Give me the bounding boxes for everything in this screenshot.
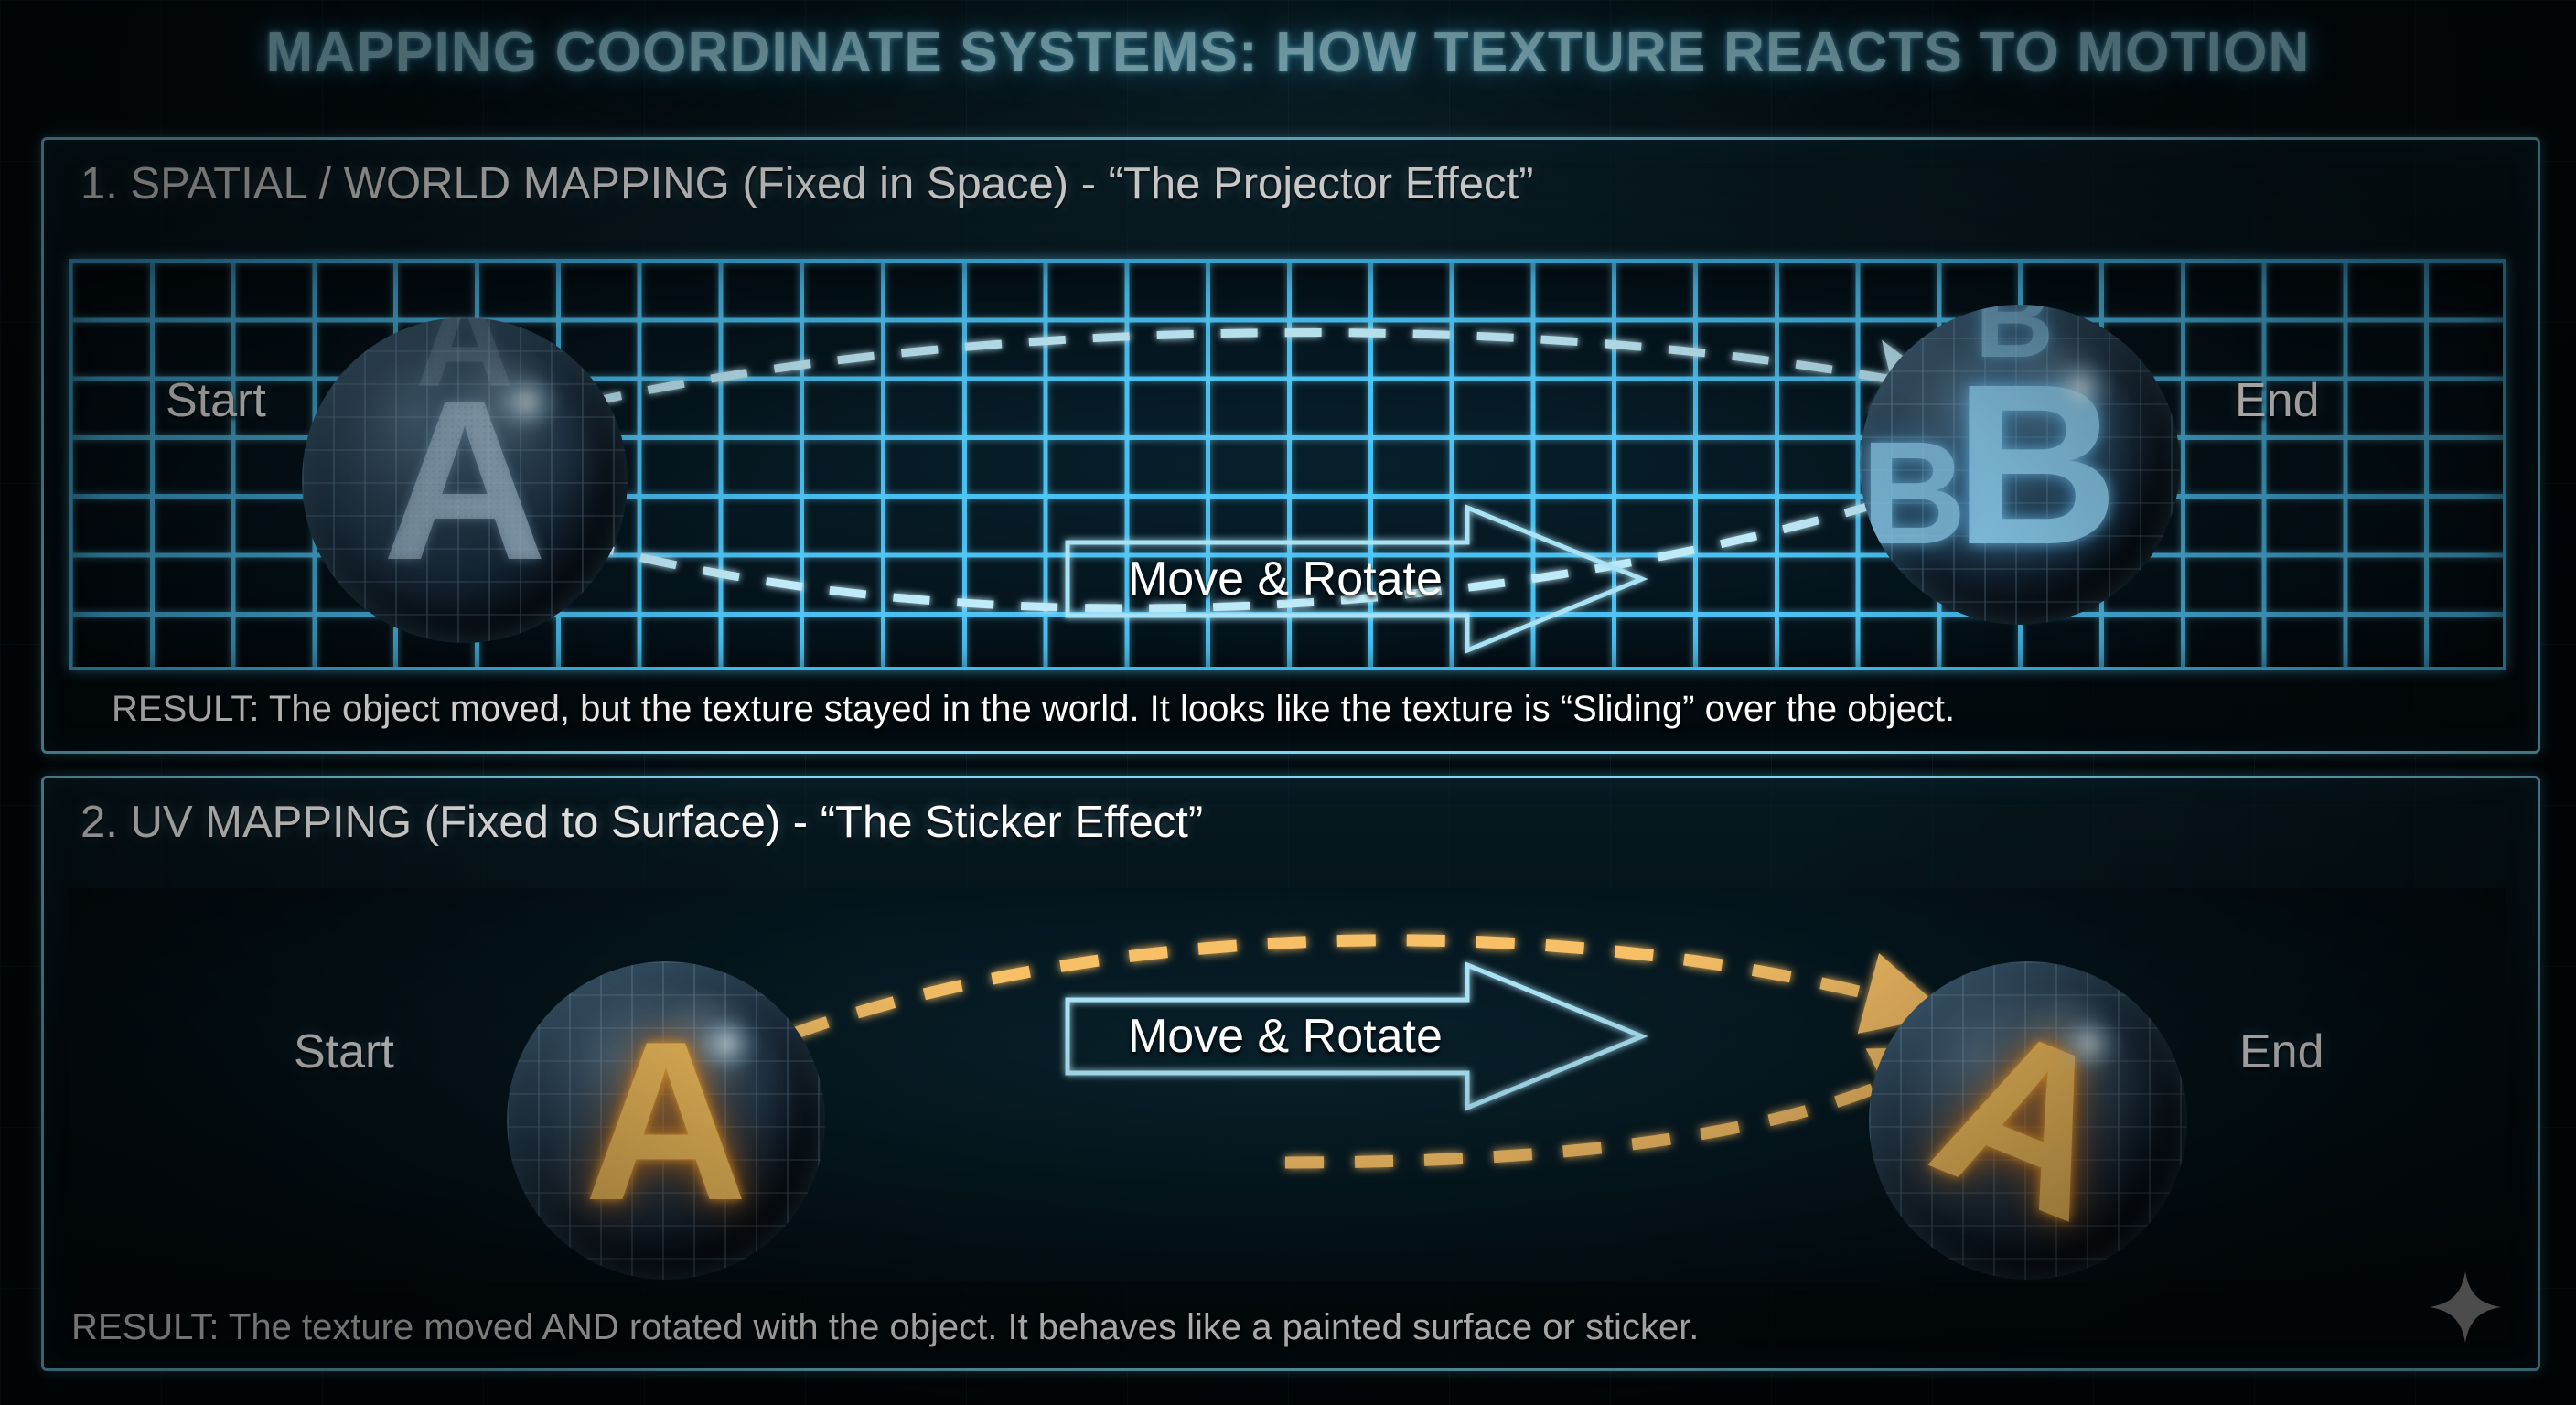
section-2-end-sphere: A: [1869, 961, 2187, 1280]
section-1-start-label: Start: [166, 373, 266, 428]
sparkle-icon: [2428, 1270, 2503, 1345]
section-2-arrow-label: Move & Rotate: [1065, 1009, 1506, 1064]
section-2-heading: 2. UV MAPPING (Fixed to Surface) - “The …: [80, 797, 1203, 848]
section-1-start-sphere: A A: [302, 317, 628, 643]
sphere-rim-light: [1869, 961, 2187, 1280]
section-1-end-label: End: [2235, 373, 2320, 428]
section-2-start-sphere: A: [507, 961, 825, 1280]
section-2-end-label: End: [2239, 1024, 2324, 1079]
sphere-rim-light: [1860, 305, 2180, 625]
sphere-rim-light: [302, 317, 628, 643]
page-title: MAPPING COORDINATE SYSTEMS: HOW TEXTURE …: [0, 20, 2576, 85]
section-spatial-mapping-panel: 1. SPATIAL / WORLD MAPPING (Fixed in Spa…: [41, 137, 2540, 754]
section-1-end-sphere: B B B: [1860, 305, 2180, 625]
section-1-heading: 1. SPATIAL / WORLD MAPPING (Fixed in Spa…: [80, 158, 1533, 209]
section-2-start-label: Start: [294, 1024, 394, 1079]
section-2-move-rotate-arrow: Move & Rotate: [1065, 961, 1645, 1111]
section-2-result-text: RESULT: The texture moved AND rotated wi…: [71, 1307, 1699, 1348]
section-1-move-rotate-arrow: Move & Rotate: [1065, 504, 1645, 654]
section-uv-mapping-panel: 2. UV MAPPING (Fixed to Surface) - “The …: [41, 776, 2540, 1371]
sphere-rim-light: [507, 961, 825, 1280]
section-1-arrow-label: Move & Rotate: [1065, 552, 1506, 606]
section-1-result-text: RESULT: The object moved, but the textur…: [112, 689, 1955, 730]
